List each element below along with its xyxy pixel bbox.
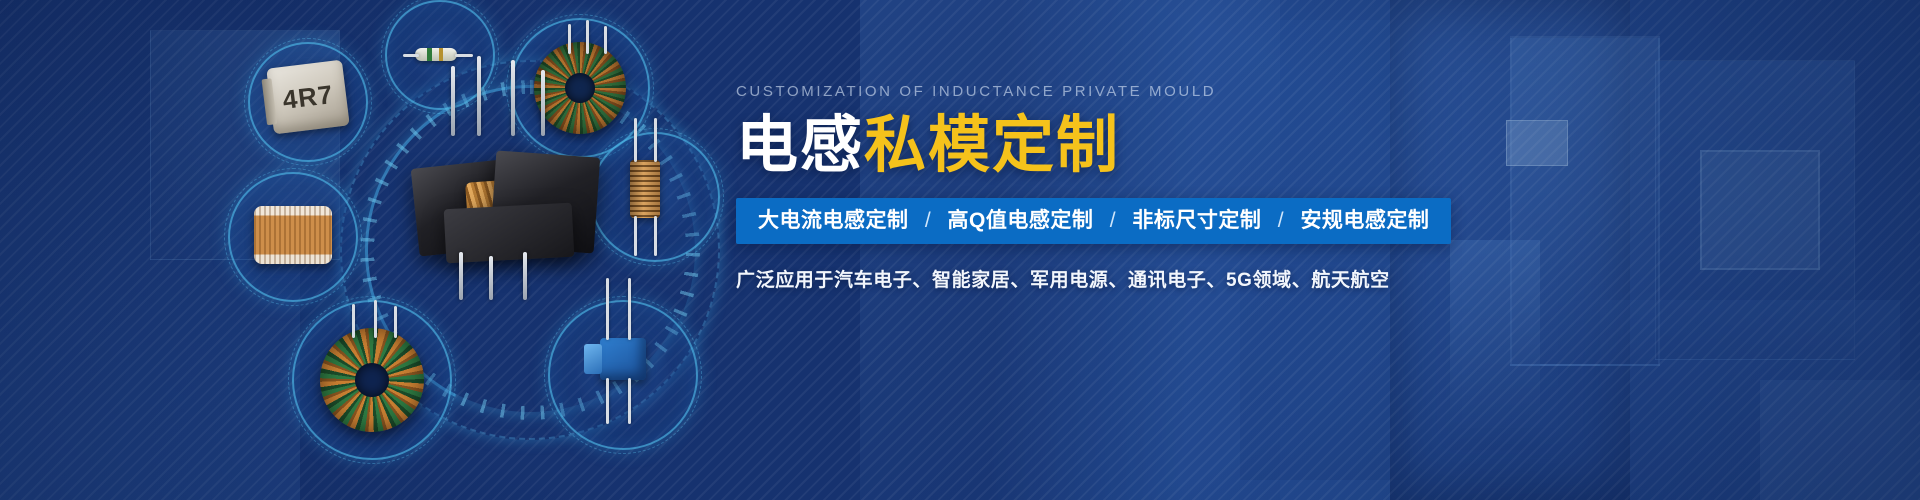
feature-item-1: 大电流电感定制: [758, 209, 909, 232]
axial-lead-top2: [654, 118, 657, 162]
product-copper-bobbin: [228, 172, 358, 302]
toroid-lead-c: [604, 26, 607, 54]
toroid-core-winding: [320, 328, 424, 432]
core-pin-7: [523, 252, 527, 300]
headline-white-part: 电感: [736, 111, 864, 180]
feature-item-2: 高Q值电感定制: [948, 209, 1094, 232]
core-pin-1: [451, 66, 455, 136]
core-pin-4: [541, 70, 545, 136]
product-smd-chip-inductor: 4R7: [248, 42, 368, 162]
core-pin-5: [459, 252, 463, 300]
banner-description: 广泛应用于汽车电子、智能家居、军用电源、通讯电子、5G领域、航天航空: [736, 268, 1496, 295]
headline-yellow-part: 私模定制: [864, 111, 1120, 180]
feature-item-3: 非标尺寸定制: [1132, 209, 1261, 232]
product-blue-inductor: [548, 300, 698, 450]
feature-bar: 大电流电感定制 / 高Q值电感定制 / 非标尺寸定制 / 安规电感定制: [736, 198, 1451, 244]
axial-coil-body: [630, 160, 660, 218]
toroid-lead-b: [374, 300, 377, 338]
feature-separator-3: /: [1268, 209, 1294, 232]
feature-separator-2: /: [1100, 209, 1126, 232]
smd-chip-label: 4R7: [266, 60, 349, 135]
blue-lead-c: [606, 378, 609, 424]
toroid-lead-b: [586, 20, 589, 54]
hero-text-block: CUSTOMIZATION OF INDUCTANCE PRIVATE MOUL…: [736, 84, 1496, 295]
product-toroidal-inductor-bottom: [292, 300, 452, 460]
banner-headline: 电感私模定制: [736, 113, 1496, 178]
feature-separator-1: /: [915, 209, 941, 232]
core-pin-3: [511, 60, 515, 136]
product-core-transformer-stack: [415, 110, 605, 290]
resistor-lead-right: [455, 54, 473, 57]
core-pin-2: [477, 56, 481, 136]
toroid-lead-c: [394, 306, 397, 338]
toroid-lead-a: [568, 24, 571, 54]
blue-lead-d: [628, 378, 631, 424]
blue-lead-a: [606, 278, 609, 340]
axial-lead-top: [634, 118, 637, 162]
blue-component-body: [600, 338, 646, 380]
feature-list: 大电流电感定制 / 高Q值电感定制 / 非标尺寸定制 / 安规电感定制: [758, 210, 1429, 231]
toroid-lead-a: [352, 304, 355, 338]
product-axial-choke: [590, 132, 720, 262]
resistor-body: [415, 48, 457, 61]
hero-banner: 4R7: [0, 0, 1920, 500]
bobbin-coil-body: [254, 206, 332, 264]
core-block-c: [444, 203, 575, 264]
banner-eyebrow-english: CUSTOMIZATION OF INDUCTANCE PRIVATE MOUL…: [736, 84, 1496, 99]
axial-lead-bottom: [634, 216, 637, 256]
blue-lead-b: [628, 278, 631, 340]
feature-item-4: 安规电感定制: [1300, 209, 1429, 232]
resistor-lead-left: [403, 54, 419, 57]
core-pin-6: [489, 256, 493, 300]
axial-lead-bottom2: [654, 216, 657, 256]
